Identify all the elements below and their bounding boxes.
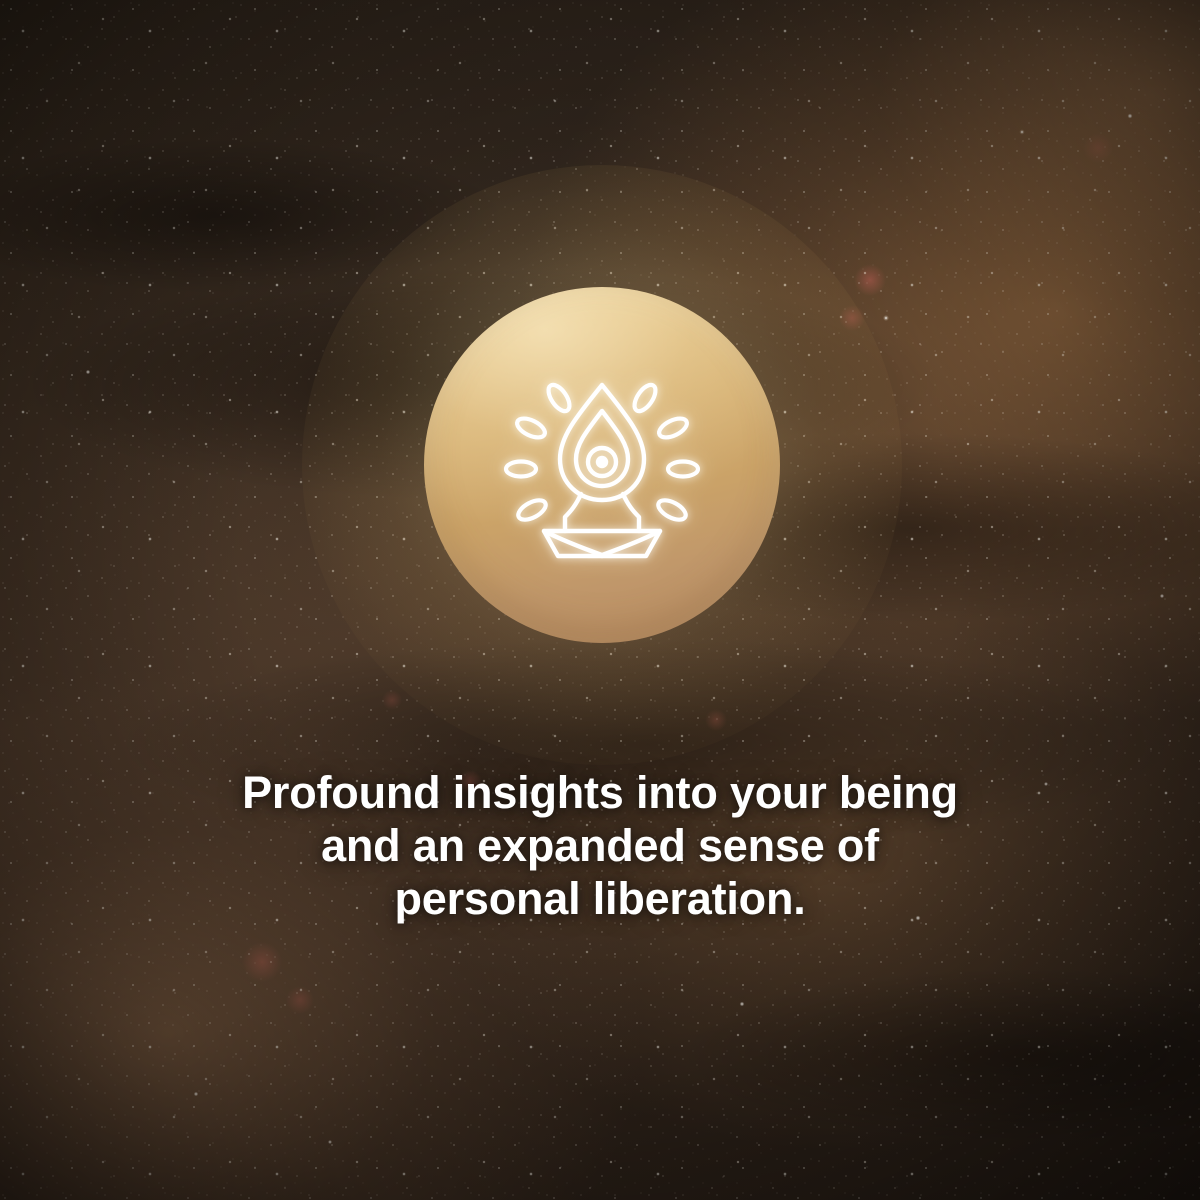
caption-text: Profound insights into your being and an… (0, 766, 1200, 925)
torso-right-icon (623, 494, 639, 531)
lotus-base-icon (544, 531, 660, 556)
meditating-figure-icon (492, 355, 712, 575)
petal-icon (630, 381, 659, 414)
petal-icon (544, 381, 573, 414)
petal-icon (655, 496, 689, 523)
petal-icon (506, 462, 536, 477)
caption-line-3: personal liberation. (150, 872, 1050, 925)
droplet-outline-icon (560, 385, 644, 500)
poster-canvas: Profound insights into your being and an… (0, 0, 1200, 1200)
caption-line-2: and an expanded sense of (150, 819, 1050, 872)
petal-group (506, 381, 698, 523)
petal-icon (656, 415, 690, 442)
petal-icon (668, 462, 698, 477)
caption-line-1: Profound insights into your being (150, 766, 1050, 819)
petal-icon (515, 496, 549, 523)
third-eye-pupil-icon (596, 456, 608, 468)
torso-left-icon (565, 494, 581, 531)
petal-icon (514, 415, 548, 442)
